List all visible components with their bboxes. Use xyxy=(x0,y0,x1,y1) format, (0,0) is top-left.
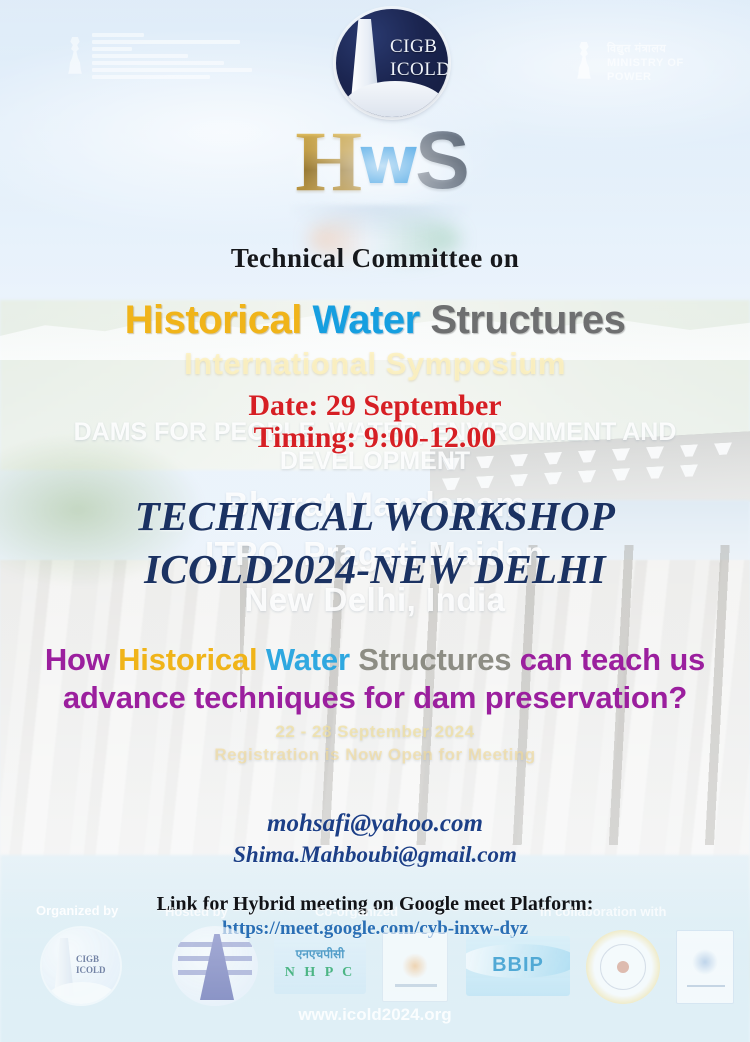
icold-logo-text: CIGB ICOLD xyxy=(390,35,448,81)
hws-logo-w: w xyxy=(358,116,419,206)
organized-by-label: Organized by xyxy=(36,903,118,918)
workshop-question: How Historical Water Structures can teac… xyxy=(28,641,722,717)
hws-logo-h: H xyxy=(295,116,362,206)
sjvn-label: BBIP xyxy=(466,954,570,977)
footer-icold-text: CIGB ICOLD xyxy=(76,954,106,976)
nhpc-hindi-text: एनएचपीसी xyxy=(274,945,366,962)
footer-logo-cigb-icold: CIGB ICOLD xyxy=(42,928,120,1004)
co-organized-label: Co-organized xyxy=(315,904,398,919)
ministry-of-power-text: विद्युत मंत्रालय MINISTRY OF POWER xyxy=(607,42,684,84)
contact-email-1[interactable]: mohsafi@yahoo.com xyxy=(0,810,750,838)
ghost-event-dates: 22 - 28 September 2024 xyxy=(0,722,750,742)
cigb-icold-logo: CIGB ICOLD xyxy=(336,9,448,117)
footer-logo-partner-6 xyxy=(586,930,660,1004)
hosted-by-label: Hosted by xyxy=(165,904,228,919)
mop-hindi: विद्युत मंत्रालय xyxy=(607,42,684,56)
ashoka-pillar-icon-right xyxy=(575,42,593,82)
icold-logo-line1: CIGB xyxy=(390,35,448,58)
technical-committee-label: Technical Committee on xyxy=(0,243,750,274)
footer-logo-partner-4 xyxy=(382,932,448,1002)
partner-4-line xyxy=(395,984,437,987)
footer-icold-line1: CIGB xyxy=(76,954,106,965)
question-word-structures: Structures xyxy=(358,642,511,677)
event-timing: Timing: 9:00-12.00 xyxy=(0,421,750,455)
partner-6-dot-icon xyxy=(617,961,629,973)
nhpc-english-text: N H P C xyxy=(274,965,366,981)
government-of-india-emblem xyxy=(66,33,266,91)
question-word-water: Water xyxy=(266,642,350,677)
ghost-registration-note: Registration is Now Open for Meeting xyxy=(0,745,750,765)
hws-logo-s: S xyxy=(415,116,470,206)
workshop-title-line2: ICOLD2024-NEW DELHI xyxy=(0,545,750,593)
partner-7-line xyxy=(687,985,725,987)
contact-email-2[interactable]: Shima.Mahboubi@gmail.com xyxy=(0,842,750,868)
ministry-of-power-emblem: विद्युत मंत्रालय MINISTRY OF POWER xyxy=(575,38,715,94)
question-space-1 xyxy=(257,642,265,677)
title-word-historical: Historical xyxy=(125,298,302,342)
title-word-water: Water xyxy=(313,298,420,342)
title-word-structures: Structures xyxy=(430,298,625,342)
hws-logo: HwS xyxy=(275,116,490,216)
emblem-left-text-lines xyxy=(92,33,252,82)
poster-root: International Symposium DAMS FOR PEOPLE,… xyxy=(0,0,750,1042)
icold-logo-line2: ICOLD xyxy=(390,58,448,81)
workshop-title-line1: TECHNICAL WORKSHOP xyxy=(0,492,750,540)
event-date: Date: 29 September xyxy=(0,389,750,423)
question-space-2 xyxy=(350,642,358,677)
question-word-historical: Historical xyxy=(118,642,257,677)
footer-logo-nhpc: एनएचपीसी N H P C xyxy=(274,938,366,994)
mop-line1: MINISTRY OF xyxy=(607,56,684,70)
mop-line2: POWER xyxy=(607,70,684,84)
in-collaboration-label: In collaboration with xyxy=(540,904,666,919)
footer-logo-cbip xyxy=(172,926,258,1006)
ghost-international-symposium: International Symposium xyxy=(0,346,750,382)
page-title: Historical Water Structures xyxy=(0,298,750,343)
ashoka-pillar-icon xyxy=(66,37,84,77)
footer-logo-partner-7 xyxy=(676,930,734,1004)
footer-logo-sjvn: BBIP xyxy=(466,936,570,996)
hws-logo-reflection xyxy=(290,205,470,239)
website-url[interactable]: www.icold2024.org xyxy=(0,1005,750,1025)
question-pre: How xyxy=(45,642,118,677)
partner-4-mark-icon xyxy=(402,953,428,979)
partner-7-emblem-icon xyxy=(692,949,718,975)
footer-icold-line2: ICOLD xyxy=(76,965,106,976)
